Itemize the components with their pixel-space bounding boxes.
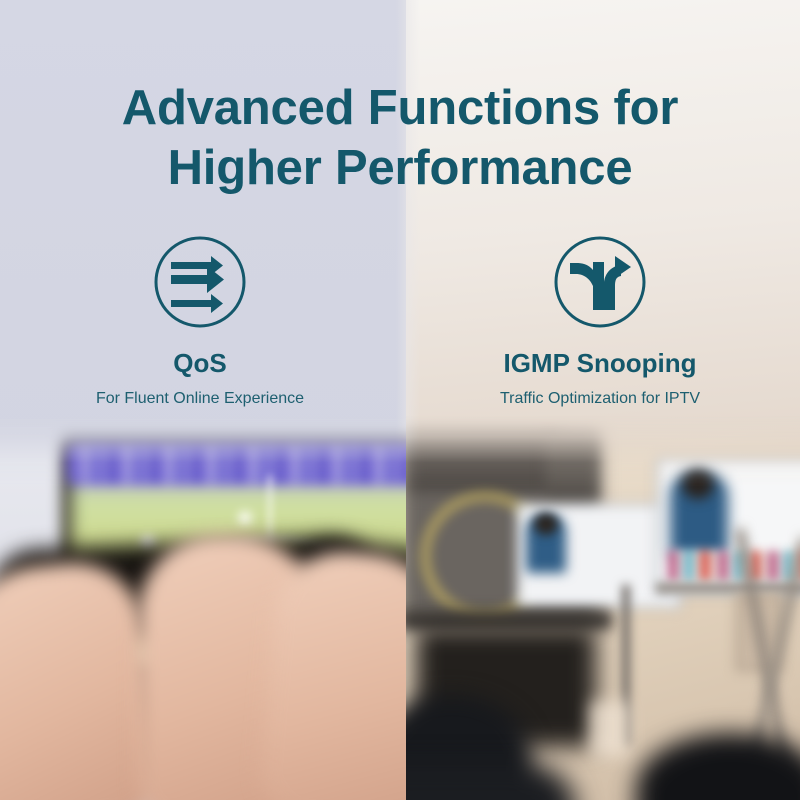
photo-band bbox=[0, 415, 800, 800]
page-title: Advanced Functions for Higher Performanc… bbox=[0, 78, 800, 198]
gaming-controller-photo bbox=[0, 415, 406, 800]
branching-paths-igmp-icon bbox=[550, 232, 650, 332]
feature-subtitle: For Fluent Online Experience bbox=[96, 389, 304, 409]
feature-title: IGMP Snooping bbox=[503, 348, 696, 378]
stadium-crowd-band bbox=[70, 445, 406, 483]
feature-igmp-snooping: IGMP Snooping Traffic Optimization for I… bbox=[400, 232, 800, 409]
display-app-icons-row bbox=[668, 551, 800, 581]
pitch-player-dot bbox=[238, 511, 252, 525]
feature-qos: QoS For Fluent Online Experience bbox=[0, 232, 400, 409]
feature-list: QoS For Fluent Online Experience IG bbox=[0, 232, 800, 409]
primary-display-person-head bbox=[682, 469, 714, 499]
speaker-box bbox=[546, 431, 596, 505]
cabinet-shadow bbox=[410, 429, 560, 491]
feature-subtitle: Traffic Optimization for IPTV bbox=[500, 389, 700, 409]
iptv-displays-photo bbox=[406, 415, 800, 800]
viewer-shoulder bbox=[406, 765, 576, 800]
display-shelf bbox=[656, 583, 800, 593]
three-arrows-qos-icon bbox=[150, 232, 250, 332]
page-title-line-2: Higher Performance bbox=[0, 138, 800, 198]
secondary-display-person-head bbox=[534, 513, 558, 535]
page-title-line-1: Advanced Functions for bbox=[0, 78, 800, 138]
room-lamp-glow bbox=[590, 701, 630, 757]
feature-title: QoS bbox=[173, 348, 226, 378]
promo-banner: Advanced Functions for Higher Performanc… bbox=[0, 0, 800, 800]
